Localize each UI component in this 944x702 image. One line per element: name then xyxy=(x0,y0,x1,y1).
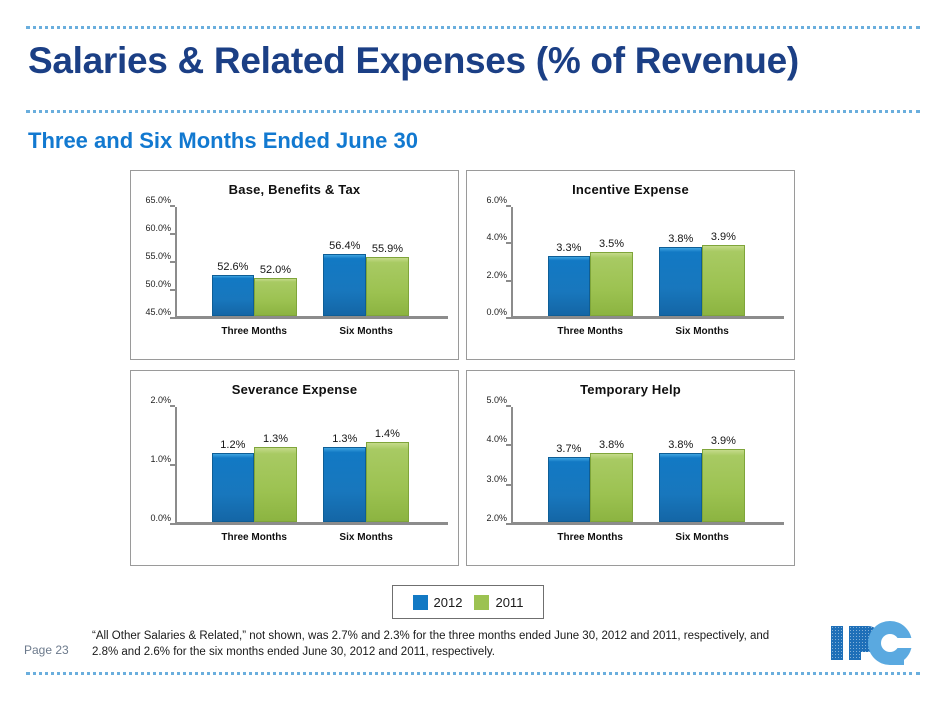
plot-area: 45.0%50.0%55.0%60.0%65.0%52.6%52.0%Three… xyxy=(175,207,448,319)
bar-wrapper: 1.3% xyxy=(254,407,297,522)
bar-group: 3.7%3.8%Three Months xyxy=(548,407,633,525)
legend-label: 2011 xyxy=(495,595,523,610)
bar-group: 1.3%1.4%Six Months xyxy=(323,407,408,525)
plot-area: 0.0%1.0%2.0%1.2%1.3%Three Months1.3%1.4%… xyxy=(175,407,448,525)
bar-2012: 52.6% xyxy=(212,275,255,316)
bar-wrapper: 3.8% xyxy=(659,407,702,522)
y-axis-tick-label: 2.0% xyxy=(467,513,507,525)
bar-2011: 52.0% xyxy=(254,278,297,316)
chart-title: Temporary Help xyxy=(467,382,794,397)
y-axis-tick-label: 1.0% xyxy=(131,454,171,466)
plot-area: 2.0%3.0%4.0%5.0%3.7%3.8%Three Months3.8%… xyxy=(511,407,784,525)
bar-value-label: 52.0% xyxy=(260,264,291,276)
y-axis-tick-label: 55.0% xyxy=(131,251,171,263)
bar-2012: 1.2% xyxy=(212,453,255,522)
bar-wrapper: 3.3% xyxy=(548,207,591,316)
y-axis-line xyxy=(511,407,513,525)
x-axis-category-label: Three Months xyxy=(212,532,297,543)
y-axis-tick-mark xyxy=(170,233,175,235)
divider-bottom xyxy=(26,672,920,675)
chart-title: Severance Expense xyxy=(131,382,458,397)
bar-2012: 56.4% xyxy=(323,254,366,316)
bar-2011: 3.9% xyxy=(702,449,745,522)
plot-area: 0.0%2.0%4.0%6.0%3.3%3.5%Three Months3.8%… xyxy=(511,207,784,319)
y-axis-tick-label: 6.0% xyxy=(467,195,507,207)
bar-2012: 3.7% xyxy=(548,457,591,522)
bar-wrapper: 1.3% xyxy=(323,407,366,522)
bar-value-label: 3.9% xyxy=(711,231,736,243)
bar-value-label: 3.8% xyxy=(668,233,693,245)
chart-legend: 20122011 xyxy=(392,585,544,619)
y-axis-tick-label: 4.0% xyxy=(467,434,507,446)
x-axis-category-label: Three Months xyxy=(548,532,633,543)
y-axis-tick-label: 65.0% xyxy=(131,195,171,207)
chart-panel-0: Base, Benefits & Tax45.0%50.0%55.0%60.0%… xyxy=(130,170,459,360)
legend-swatch-icon xyxy=(413,595,428,610)
x-axis-category-label: Six Months xyxy=(323,532,408,543)
bar-group: 1.2%1.3%Three Months xyxy=(212,407,297,525)
bar-2012: 1.3% xyxy=(323,447,366,522)
y-axis-tick-mark xyxy=(506,444,511,446)
y-axis-tick-label: 45.0% xyxy=(131,307,171,319)
y-axis-line xyxy=(511,207,513,319)
bar-wrapper: 3.5% xyxy=(590,207,633,316)
page-subtitle: Three and Six Months Ended June 30 xyxy=(28,128,418,154)
bar-group: 56.4%55.9%Six Months xyxy=(323,207,408,319)
divider-top xyxy=(26,26,920,29)
slide-canvas: Salaries & Related Expenses (% of Revenu… xyxy=(0,0,944,702)
bar-2012: 3.8% xyxy=(659,247,702,316)
bar-wrapper: 55.9% xyxy=(366,207,409,316)
chart-title: Base, Benefits & Tax xyxy=(131,182,458,197)
y-axis-tick-mark xyxy=(170,289,175,291)
page-title: Salaries & Related Expenses (% of Revenu… xyxy=(28,40,799,82)
bar-2011: 55.9% xyxy=(366,257,409,316)
bar-group: 3.3%3.5%Three Months xyxy=(548,207,633,319)
bar-group: 3.8%3.9%Six Months xyxy=(659,407,744,525)
legend-label: 2012 xyxy=(434,595,463,610)
y-axis-tick-label: 5.0% xyxy=(467,395,507,407)
chart-title: Incentive Expense xyxy=(467,182,794,197)
y-axis-tick-label: 0.0% xyxy=(131,513,171,525)
bar-value-label: 3.5% xyxy=(599,238,624,250)
bar-wrapper: 3.9% xyxy=(702,207,745,316)
x-axis-category-label: Three Months xyxy=(548,326,633,337)
bar-wrapper: 52.6% xyxy=(212,207,255,316)
bar-value-label: 52.6% xyxy=(217,261,248,273)
x-axis-category-label: Six Months xyxy=(659,532,744,543)
page-number: Page 23 xyxy=(24,643,69,657)
bar-2011: 3.5% xyxy=(590,252,633,316)
y-axis-tick-mark xyxy=(170,405,175,407)
y-axis-tick-label: 60.0% xyxy=(131,223,171,235)
chart-panel-3: Temporary Help2.0%3.0%4.0%5.0%3.7%3.8%Th… xyxy=(466,370,795,566)
footnote-text: “All Other Salaries & Related,” not show… xyxy=(92,628,792,660)
x-axis-category-label: Six Months xyxy=(323,326,408,337)
bar-wrapper: 3.9% xyxy=(702,407,745,522)
bar-value-label: 3.3% xyxy=(556,242,581,254)
y-axis-tick-mark xyxy=(170,523,175,525)
bar-2011: 1.3% xyxy=(254,447,297,522)
y-axis-tick-mark xyxy=(506,484,511,486)
chart-panel-2: Severance Expense0.0%1.0%2.0%1.2%1.3%Thr… xyxy=(130,370,459,566)
y-axis-tick-mark xyxy=(506,205,511,207)
bar-wrapper: 3.7% xyxy=(548,407,591,522)
legend-swatch-icon xyxy=(474,595,489,610)
bars: 3.8%3.9% xyxy=(659,207,744,316)
bar-group: 3.8%3.9%Six Months xyxy=(659,207,744,319)
bar-wrapper: 1.2% xyxy=(212,407,255,522)
y-axis-tick-mark xyxy=(170,205,175,207)
y-axis-tick-label: 50.0% xyxy=(131,279,171,291)
bars: 1.3%1.4% xyxy=(323,407,408,522)
chart-panel-1: Incentive Expense0.0%2.0%4.0%6.0%3.3%3.5… xyxy=(466,170,795,360)
y-axis-tick-mark xyxy=(506,242,511,244)
bar-wrapper: 56.4% xyxy=(323,207,366,316)
y-axis-tick-label: 2.0% xyxy=(131,395,171,407)
bar-2012: 3.8% xyxy=(659,453,702,522)
bar-value-label: 1.2% xyxy=(220,439,245,451)
bar-value-label: 3.7% xyxy=(556,443,581,455)
bars: 1.2%1.3% xyxy=(212,407,297,522)
bars: 3.8%3.9% xyxy=(659,407,744,522)
bar-value-label: 3.9% xyxy=(711,435,736,447)
bar-group: 52.6%52.0%Three Months xyxy=(212,207,297,319)
y-axis-tick-mark xyxy=(170,464,175,466)
y-axis-tick-label: 0.0% xyxy=(467,307,507,319)
bar-value-label: 1.3% xyxy=(332,433,357,445)
divider-under-title xyxy=(26,110,920,113)
bar-2012: 3.3% xyxy=(548,256,591,316)
y-axis-tick-mark xyxy=(506,317,511,319)
legend-entry-2012: 2012 xyxy=(413,595,463,610)
y-axis-tick-label: 2.0% xyxy=(467,270,507,282)
x-axis-category-label: Six Months xyxy=(659,326,744,337)
y-axis-tick-mark xyxy=(506,405,511,407)
bar-2011: 3.9% xyxy=(702,245,745,316)
y-axis-tick-mark xyxy=(506,523,511,525)
bars: 3.3%3.5% xyxy=(548,207,633,316)
bars: 56.4%55.9% xyxy=(323,207,408,316)
bar-wrapper: 3.8% xyxy=(590,407,633,522)
bar-value-label: 56.4% xyxy=(329,240,360,252)
bar-value-label: 3.8% xyxy=(599,439,624,451)
bar-wrapper: 3.8% xyxy=(659,207,702,316)
y-axis-tick-label: 3.0% xyxy=(467,474,507,486)
bar-2011: 3.8% xyxy=(590,453,633,522)
bar-wrapper: 52.0% xyxy=(254,207,297,316)
bar-value-label: 55.9% xyxy=(372,243,403,255)
bars: 52.6%52.0% xyxy=(212,207,297,316)
y-axis-line xyxy=(175,207,177,319)
ipg-logo xyxy=(828,620,920,666)
y-axis-tick-label: 4.0% xyxy=(467,232,507,244)
y-axis-line xyxy=(175,407,177,525)
y-axis-tick-mark xyxy=(170,317,175,319)
bar-2011: 1.4% xyxy=(366,442,409,523)
bar-value-label: 1.3% xyxy=(263,433,288,445)
legend-entry-2011: 2011 xyxy=(474,595,523,610)
bar-value-label: 3.8% xyxy=(668,439,693,451)
y-axis-tick-mark xyxy=(506,280,511,282)
bar-value-label: 1.4% xyxy=(375,428,400,440)
bar-wrapper: 1.4% xyxy=(366,407,409,522)
bars: 3.7%3.8% xyxy=(548,407,633,522)
y-axis-tick-mark xyxy=(170,261,175,263)
x-axis-category-label: Three Months xyxy=(212,326,297,337)
